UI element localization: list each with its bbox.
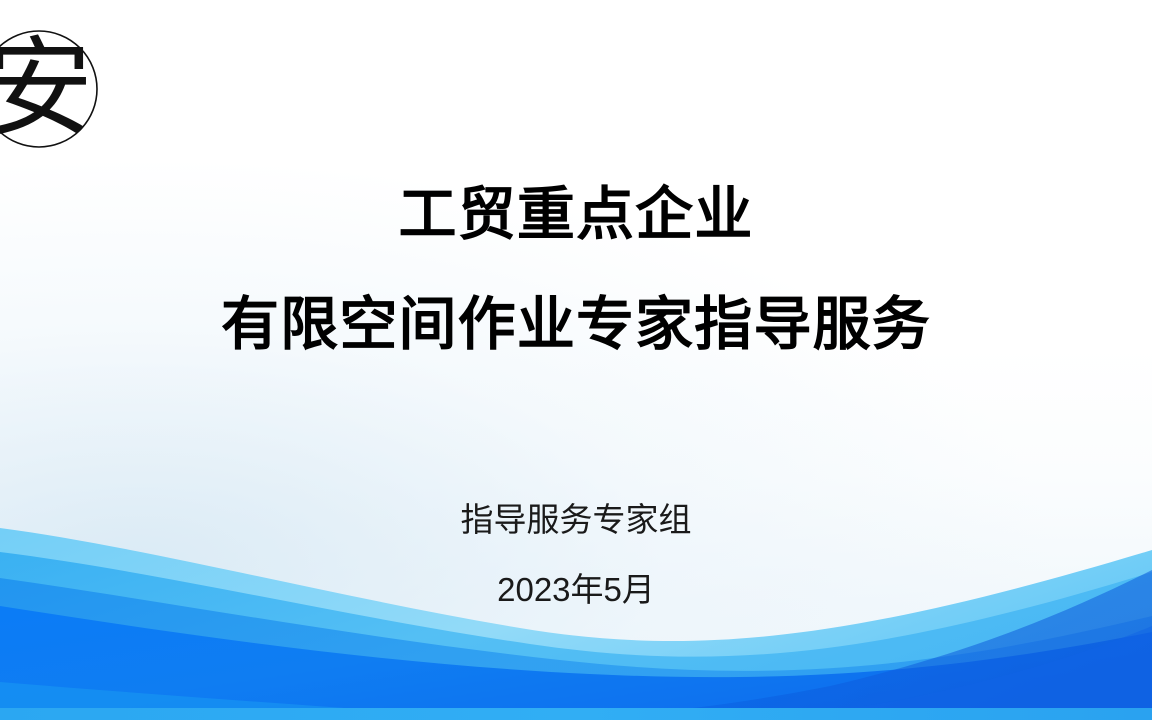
subtitle-author: 指导服务专家组 <box>0 503 1152 536</box>
title-line-2: 有限空间作业专家指导服务 <box>0 296 1152 354</box>
slide-title: 工贸重点企业 有限空间作业专家指导服务 <box>0 186 1152 354</box>
slide-subtitle: 指导服务专家组 2023年5月 <box>0 503 1152 606</box>
safety-seal-logo: 安 <box>0 28 100 150</box>
subtitle-date: 2023年5月 <box>0 573 1152 606</box>
logo-character: 安 <box>0 27 93 152</box>
background-gradient <box>0 0 1152 720</box>
presentation-slide: 安 工贸重点企业 有限空间作业专家指导服务 指导服务专家组 2023年5月 <box>0 0 1152 720</box>
title-line-1: 工贸重点企业 <box>0 186 1152 244</box>
